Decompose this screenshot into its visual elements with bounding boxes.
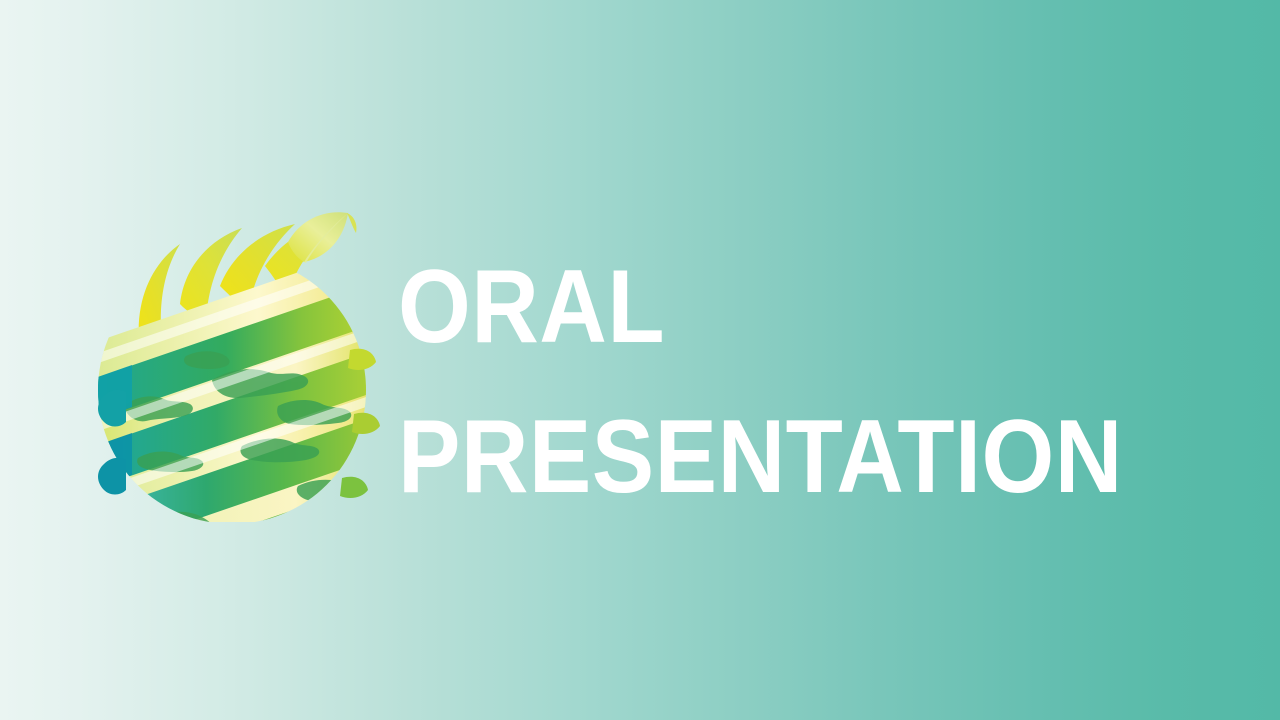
leaf-icon: [288, 212, 357, 263]
title-line-1: ORAL: [398, 232, 1154, 382]
globe-ribbon-leaf-logo: [92, 200, 382, 522]
title-block: ORAL PRESENTATION: [398, 232, 1238, 532]
title-line-2: PRESENTATION: [398, 382, 1154, 532]
band-left-shading: [92, 365, 132, 522]
title-slide: ORAL PRESENTATION: [0, 0, 1280, 720]
